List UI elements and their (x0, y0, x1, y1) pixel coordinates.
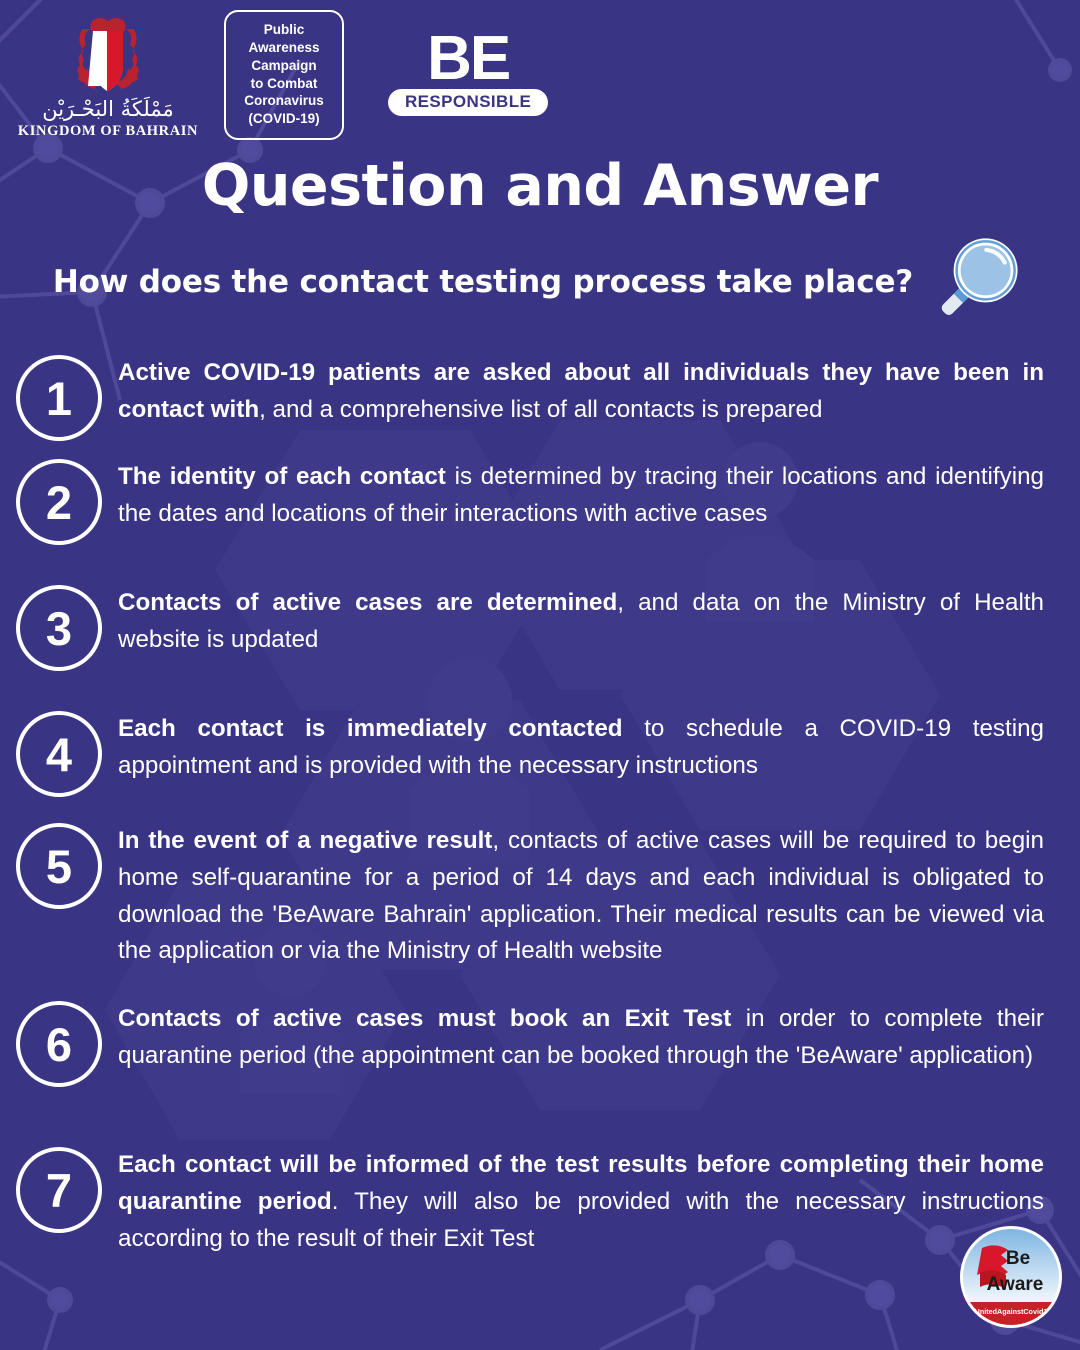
magnifying-glass-icon (923, 229, 1027, 333)
step-number-1: 1 (16, 355, 102, 441)
beaware-badge-icon[interactable]: Be Aware #UnitedAgainstCovid19 (960, 1226, 1062, 1328)
step-bullet-column: 5 (0, 823, 118, 909)
step-text: Each contact will be informed of the tes… (118, 1147, 1060, 1257)
step-text: The identity of each contact is determin… (118, 459, 1060, 533)
step-text: Contacts of active cases are determined,… (118, 585, 1060, 659)
step-text-bold: In the event of a negative result (118, 827, 492, 854)
step-text-rest: , and a comprehensive list of all contac… (259, 396, 822, 423)
step-text: Active COVID-19 patients are asked about… (118, 355, 1060, 429)
campaign-line-5: (COVID-19) (240, 110, 328, 128)
bahrain-coat-of-arms-icon (66, 11, 150, 97)
svg-text:Aware: Aware (987, 1274, 1044, 1295)
be-responsible-logo: BE RESPONSIBLE (388, 34, 548, 117)
steps-list: 1Active COVID-19 patients are asked abou… (0, 355, 1080, 1297)
step-bullet-column: 1 (0, 355, 118, 441)
step-item: 7Each contact will be informed of the te… (0, 1147, 1060, 1297)
be-logo-pill: RESPONSIBLE (388, 89, 548, 116)
step-number-6: 6 (16, 1001, 102, 1087)
campaign-badge: Public Awareness Campaign to Combat Coro… (224, 10, 344, 140)
step-bullet-column: 4 (0, 711, 118, 797)
bahrain-arabic-label: مَمْلَكَةُ البَحْـرَيْن (42, 99, 174, 120)
step-bullet-column: 6 (0, 1001, 118, 1087)
step-number-5: 5 (16, 823, 102, 909)
step-number-2: 2 (16, 459, 102, 545)
title-section: Question and Answer How does the contact… (0, 158, 1080, 333)
step-text-bold: The identity of each contact (118, 463, 446, 490)
step-bullet-column: 3 (0, 585, 118, 671)
step-text-bold: Contacts of active cases must book an Ex… (118, 1005, 731, 1032)
campaign-line-4: Coronavirus (240, 92, 328, 110)
step-bullet-column: 7 (0, 1147, 118, 1233)
subtitle-row: How does the contact testing process tak… (0, 231, 1080, 333)
step-item: 6Contacts of active cases must book an E… (0, 1001, 1060, 1147)
campaign-line-3: to Combat (240, 75, 328, 93)
step-bullet-column: 2 (0, 459, 118, 545)
svg-text:#UnitedAgainstCovid19: #UnitedAgainstCovid19 (971, 1307, 1052, 1316)
step-number-4: 4 (16, 711, 102, 797)
step-text-bold: Contacts of active cases are determined (118, 589, 617, 616)
step-item: 4Each contact is immediately contacted t… (0, 711, 1060, 823)
step-text: Each contact is immediately contacted to… (118, 711, 1060, 785)
step-text: Contacts of active cases must book an Ex… (118, 1001, 1060, 1075)
campaign-line-2: Campaign (240, 57, 328, 75)
step-number-3: 3 (16, 585, 102, 671)
step-item: 2The identity of each contact is determi… (0, 459, 1060, 585)
svg-text:Be: Be (1006, 1248, 1030, 1269)
be-logo-word: BE (427, 34, 509, 85)
step-item: 1Active COVID-19 patients are asked abou… (0, 355, 1060, 459)
bahrain-english-label: KINGDOM OF BAHRAIN (18, 123, 198, 140)
step-text-bold: Each contact is immediately contacted (118, 715, 623, 742)
step-item: 5In the event of a negative result, cont… (0, 823, 1060, 1001)
campaign-line-1: Public Awareness (240, 21, 328, 57)
kingdom-of-bahrain-logo: مَمْلَكَةُ البَحْـرَيْن KINGDOM OF BAHRA… (28, 11, 188, 140)
step-text: In the event of a negative result, conta… (118, 823, 1060, 970)
page-header: مَمْلَكَةُ البَحْـرَيْن KINGDOM OF BAHRA… (0, 0, 1080, 150)
step-number-7: 7 (16, 1147, 102, 1233)
page-subtitle: How does the contact testing process tak… (53, 264, 913, 300)
page-title: Question and Answer (0, 158, 1080, 215)
step-item: 3Contacts of active cases are determined… (0, 585, 1060, 711)
